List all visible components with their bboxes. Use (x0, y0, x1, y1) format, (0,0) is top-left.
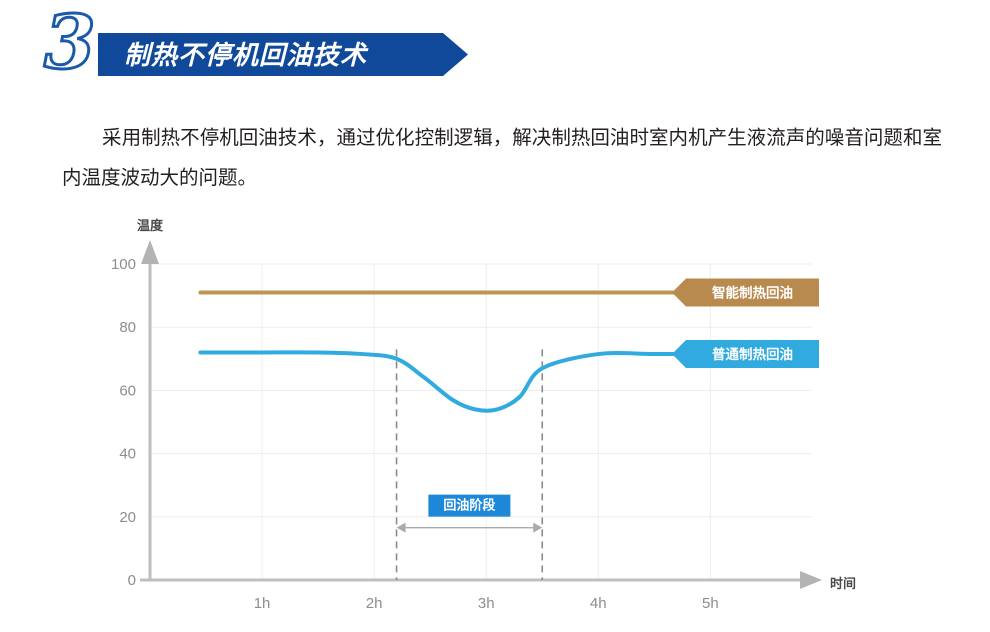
callout-label-1: 普通制热回油 (712, 346, 793, 363)
y-tick-label: 40 (119, 446, 136, 463)
callout-label-0: 智能制热回油 (712, 284, 793, 301)
section-number: 3 (44, 6, 96, 80)
y-tick-label: 80 (119, 319, 136, 336)
x-tick-label: 3h (478, 595, 495, 612)
phase-label-text: 回油阶段 (443, 498, 495, 514)
y-tick-label: 100 (111, 256, 136, 273)
callout-1: 普通制热回油 (672, 340, 819, 368)
page-title: 制热不停机回油技术 (124, 34, 367, 77)
paragraph-text: 采用制热不停机回油技术，通过优化控制逻辑，解决制热回油时室内机产生液流声的噪音问… (62, 126, 942, 189)
temperature-time-chart: 020406080100 1h2h3h4h5h 温度 时间 回油阶段 智能制热回… (0, 210, 990, 632)
y-tick-label: 0 (128, 572, 136, 589)
body-paragraph: 采用制热不停机回油技术，通过优化控制逻辑，解决制热回油时室内机产生液流声的噪音问… (62, 118, 942, 198)
callout-0: 智能制热回油 (672, 278, 819, 306)
section-header: 3 制热不停机回油技术 (0, 0, 990, 100)
x-axis-title: 时间 (830, 576, 856, 592)
x-tick-label: 2h (366, 595, 383, 612)
y-tick-label: 20 (119, 509, 136, 526)
x-tick-label: 1h (254, 595, 271, 612)
y-tick-label: 60 (119, 382, 136, 399)
x-tick-label: 5h (702, 595, 719, 612)
y-axis-title: 温度 (137, 218, 164, 234)
x-tick-label: 4h (590, 595, 607, 612)
